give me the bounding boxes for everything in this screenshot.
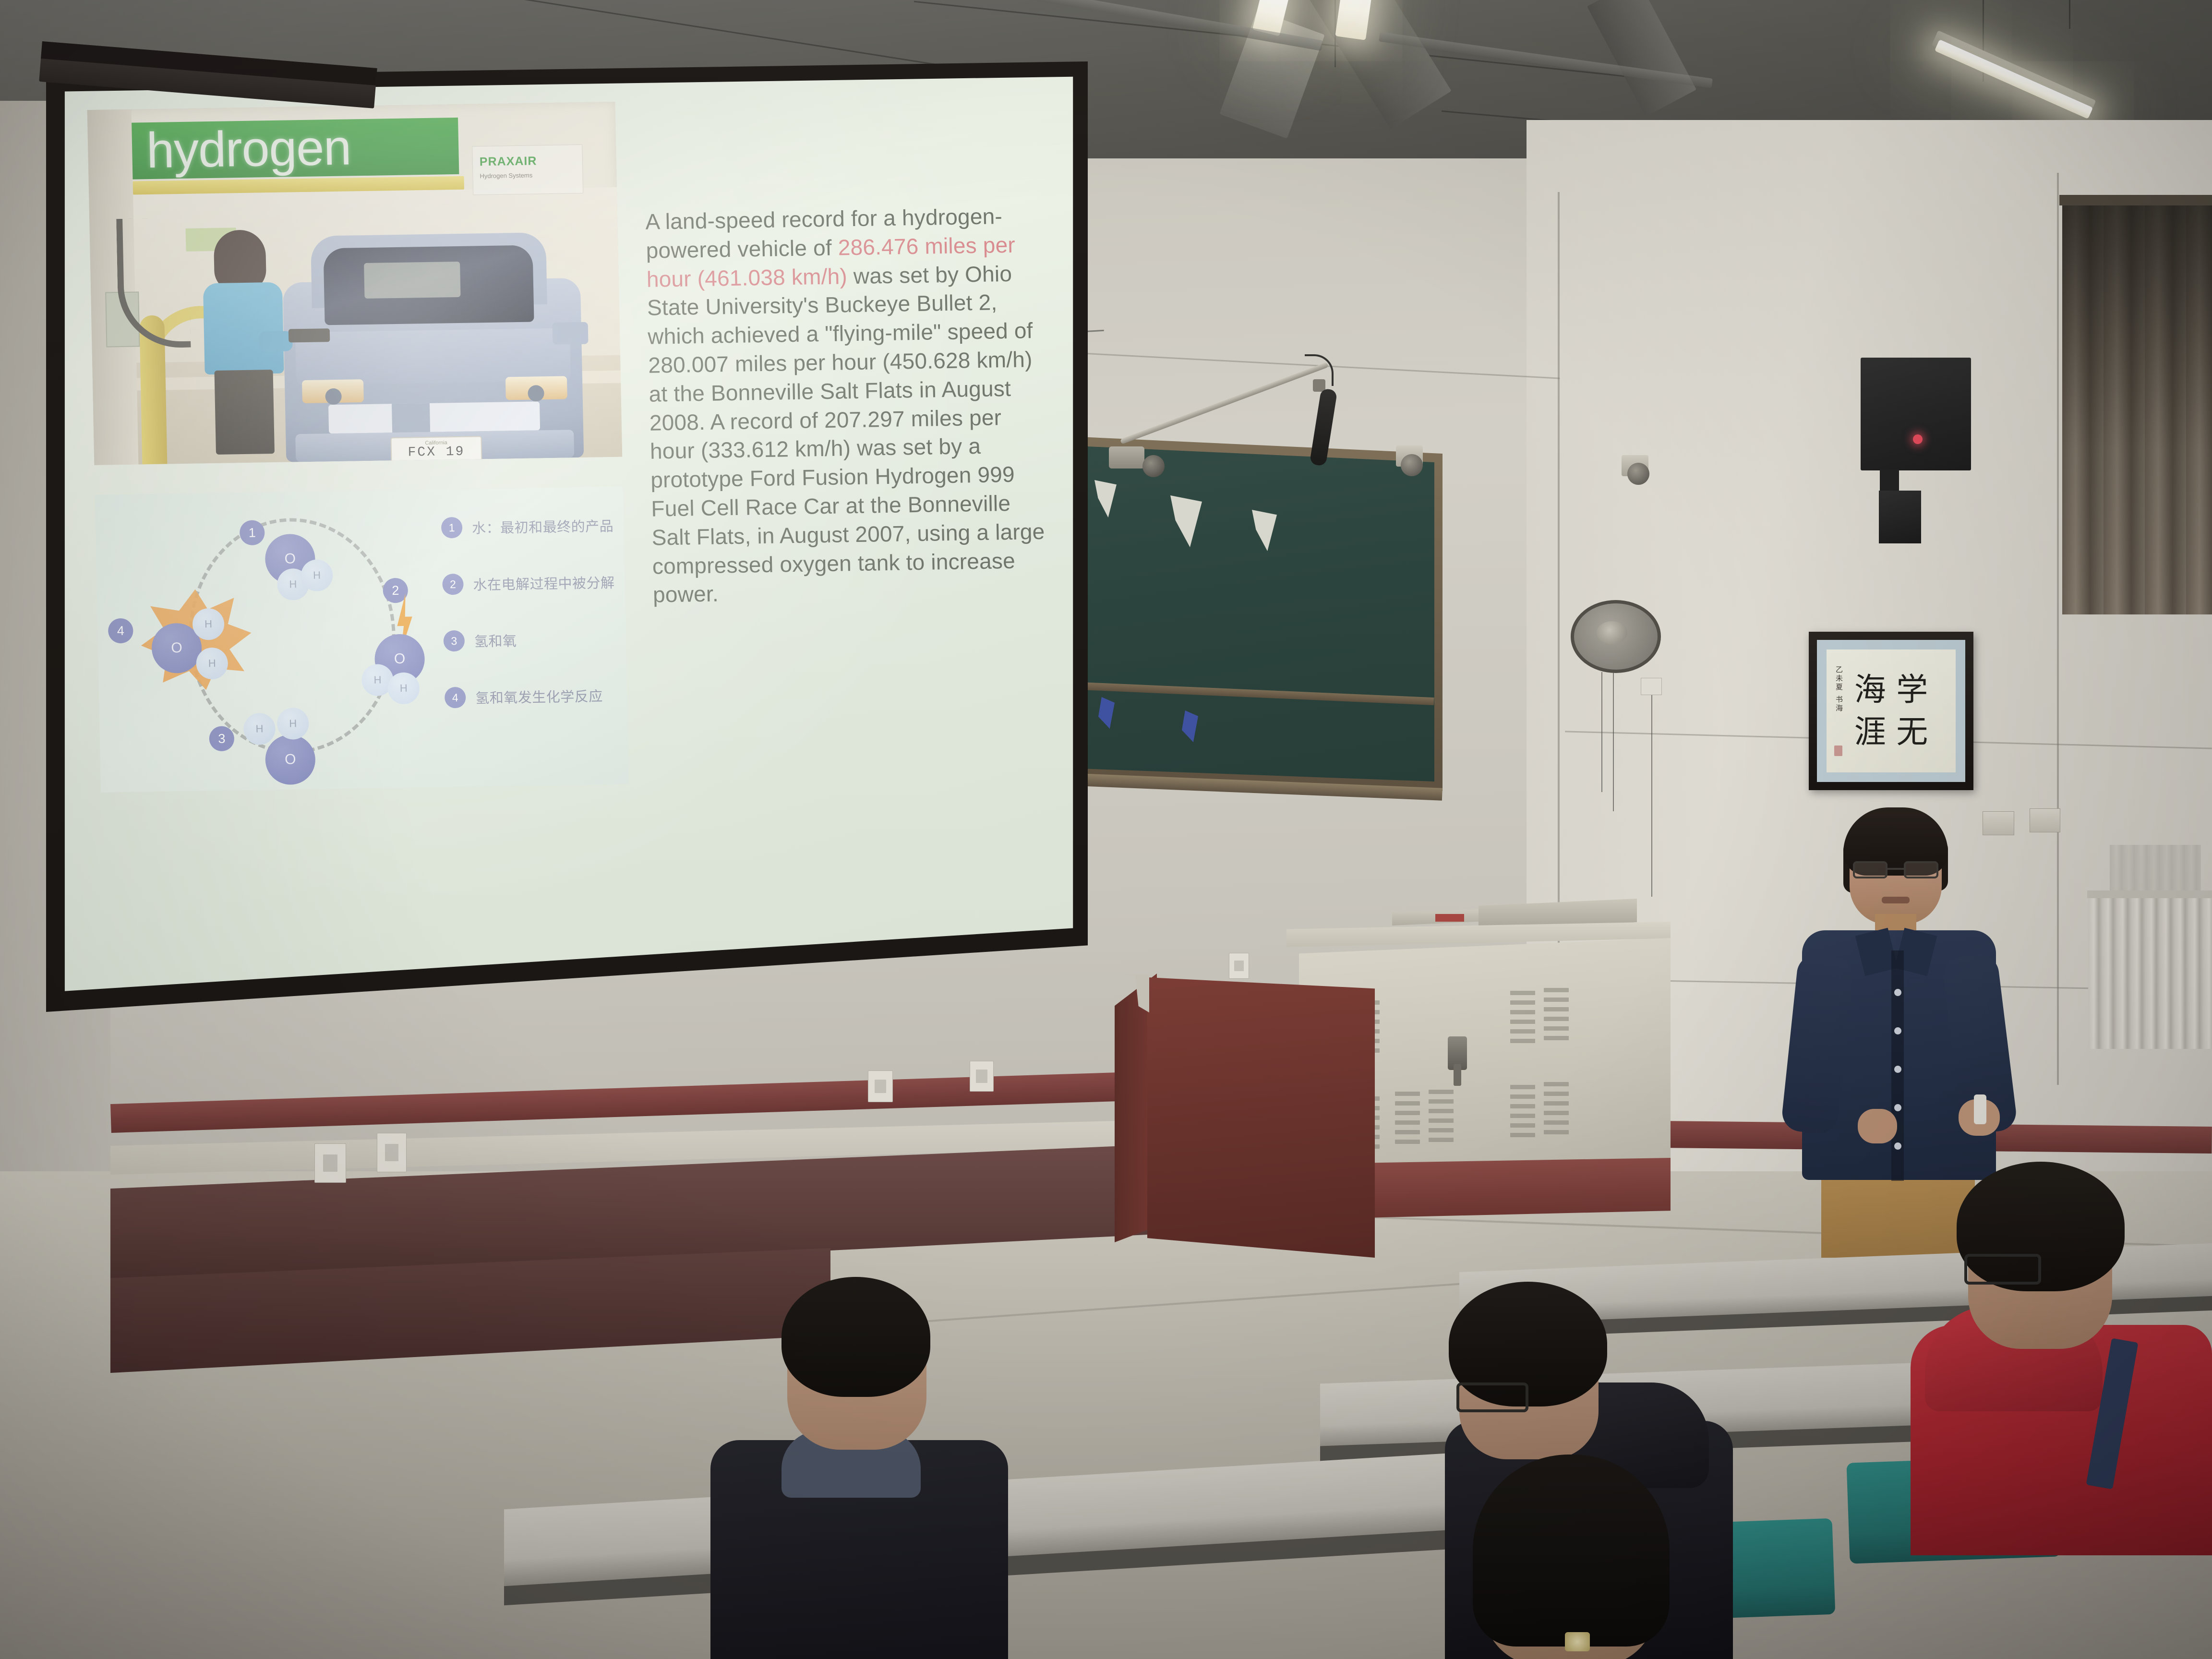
- slide-body-text: A land-speed record for a hydrogen-power…: [645, 202, 1047, 610]
- legend-item: 2 水在电解过程中被分解: [442, 571, 620, 595]
- praxair-subtitle-label: Hydrogen Systems: [480, 171, 582, 180]
- legend-item: 1 水：最初和最终的产品: [441, 515, 619, 539]
- student-hair: [1473, 1455, 1670, 1647]
- slide-paragraph: A land-speed record for a hydrogen-power…: [645, 202, 1047, 610]
- calligraphy-characters: 学 海 无 涯: [1849, 669, 1933, 753]
- person-refueling: [199, 229, 290, 454]
- side-mirror: [553, 322, 589, 345]
- lectern[interactable]: [1115, 970, 1374, 1258]
- shirt-button: [1894, 989, 1901, 996]
- slide-photo-hydrogen-station: hydrogen PRAXAIR Hydrogen Systems: [87, 102, 623, 465]
- student-front-center: [710, 1234, 1008, 1659]
- legend-label-4: 氢和氧发生化学反应: [475, 685, 603, 707]
- hydrogen-car: California FCX 19: [282, 232, 584, 462]
- person-hand: [259, 331, 293, 351]
- wall-switch[interactable]: [377, 1133, 407, 1172]
- legend-badge-2: 2: [442, 574, 464, 595]
- diagram-step-badge-3: 3: [209, 726, 234, 751]
- fan-hub: [1597, 621, 1627, 644]
- person-torso: [203, 282, 284, 375]
- license-plate: California FCX 19: [390, 436, 482, 463]
- slide-text-part2: was set by Ohio State University's Bucke…: [647, 261, 1045, 607]
- calligraphy-char-2: 海: [1849, 669, 1891, 711]
- radiator-cap: [2087, 890, 2212, 898]
- person-legs: [215, 370, 275, 455]
- projector-screen[interactable]: hydrogen PRAXAIR Hydrogen Systems: [58, 73, 1079, 998]
- motion-sensor: [1627, 463, 1649, 485]
- hydrogen-atom: H: [387, 672, 420, 704]
- wall-outlet[interactable]: [868, 1070, 893, 1102]
- windshield-reflection: [364, 262, 460, 299]
- mic-boom-pivot[interactable]: [1142, 455, 1165, 477]
- presenter-mouth: [1882, 897, 1910, 903]
- presentation-clicker[interactable]: [1974, 1094, 1986, 1124]
- motion-sensor: [1401, 454, 1423, 476]
- radiator-pipes: [2110, 845, 2201, 893]
- legend-badge-3: 3: [443, 630, 465, 652]
- light-hanger: [2069, 0, 2070, 29]
- vent-louvers: [1544, 1082, 1569, 1134]
- lectern-front-panel: [1147, 977, 1375, 1258]
- wall-outlet[interactable]: [314, 1143, 346, 1183]
- vent-louvers: [1510, 1085, 1535, 1137]
- chalkboard[interactable]: [1067, 445, 1434, 781]
- wall-speaker: [1861, 358, 1971, 470]
- radiator: [2088, 890, 2212, 1049]
- calligraphy-mat: 乙未夏 书海 学 海 无 涯: [1817, 640, 1965, 782]
- diagram-step-badge-4: 4: [108, 618, 133, 644]
- speaker-stem: [1880, 469, 1899, 491]
- legend-badge-1: 1: [441, 517, 463, 539]
- legend-badge-4: 4: [445, 687, 466, 709]
- legend-label-3: 氢和氧: [474, 630, 517, 650]
- slide-diagram-electrolysis-cycle: 1 O H H 2 O H H 3 O H H: [95, 487, 629, 793]
- calligraphy-char-3: 无: [1891, 711, 1934, 753]
- student-front-low: [1421, 1455, 1728, 1659]
- shirt-button: [1894, 1027, 1901, 1034]
- shirt-button: [1894, 1066, 1901, 1073]
- oxygen-atom: O: [265, 734, 316, 785]
- fan-power-cord: [1651, 695, 1652, 897]
- hydrogen-sign-label: hydrogen: [146, 122, 351, 176]
- presentation-slide: hydrogen PRAXAIR Hydrogen Systems: [58, 73, 1079, 998]
- wall-junction-box: [1879, 491, 1921, 543]
- license-plate-number: FCX 19: [408, 445, 465, 459]
- curtain-shadow: [2062, 202, 2212, 614]
- student-right-red: [1911, 1133, 2212, 1555]
- fuel-nozzle: [289, 328, 330, 342]
- presenter-glasses: [1853, 861, 1938, 878]
- praxair-sign: PRAXAIR Hydrogen Systems: [472, 144, 583, 195]
- vent-louvers: [1429, 1090, 1454, 1142]
- glasses-lens-right: [1904, 861, 1938, 878]
- car-grille: [328, 401, 540, 433]
- shirt-button: [1894, 1142, 1901, 1150]
- legend-item: 4 氢和氧发生化学反应: [445, 685, 623, 709]
- calligraphy-char-1: 学: [1891, 669, 1934, 711]
- fan-pull-cord[interactable]: [1613, 672, 1614, 811]
- vent-louvers: [1510, 991, 1535, 1043]
- student-hair: [781, 1277, 930, 1397]
- calligraphy-paper: 乙未夏 书海 学 海 无 涯: [1827, 649, 1956, 772]
- hydrogen-sign: hydrogen: [132, 118, 459, 180]
- hair-clip-icon: [1565, 1632, 1590, 1651]
- calligraphy-signature: 乙未夏 书海: [1834, 666, 1844, 713]
- student-glasses: [1456, 1382, 1528, 1412]
- wall-fan[interactable]: [1571, 600, 1661, 673]
- legend-label-2: 水在电解过程中被分解: [473, 572, 615, 594]
- calligraphy-char-4: 涯: [1849, 711, 1891, 753]
- shirt-button: [1894, 1104, 1901, 1111]
- vent-louvers: [1544, 988, 1569, 1040]
- cabinet-hasp: [1454, 1064, 1461, 1086]
- fan-pull-cord[interactable]: [1601, 672, 1602, 792]
- student-glasses: [1964, 1254, 2041, 1285]
- calligraphy-frame: 乙未夏 书海 学 海 无 涯: [1809, 632, 1973, 790]
- curtain-rod: [2059, 195, 2212, 205]
- glasses-bridge: [1887, 868, 1904, 870]
- legend-item: 3 氢和氧: [443, 628, 621, 652]
- mic-boom-mount: [1109, 446, 1144, 469]
- wall-corner: [2057, 173, 2059, 1085]
- legend-label-1: 水：最初和最终的产品: [472, 515, 614, 538]
- av-red-item: [1435, 914, 1464, 922]
- fan-wall-switch[interactable]: [1641, 678, 1662, 695]
- speaker-power-led-icon: [1913, 434, 1923, 444]
- wall-outlet[interactable]: [970, 1061, 994, 1092]
- calligraphy-seal: [1834, 745, 1842, 756]
- glasses-lens-left: [1853, 861, 1887, 878]
- presenter-hand-left: [1858, 1109, 1897, 1143]
- diagram-legend: 1 水：最初和最终的产品 2 水在电解过程中被分解 3 氢和氧 4 氢和氧发生化…: [441, 515, 623, 744]
- vent-louvers: [1395, 1092, 1420, 1144]
- praxair-brand-label: PRAXAIR: [480, 154, 583, 169]
- classroom-scene: hydrogen PRAXAIR Hydrogen Systems: [0, 0, 2212, 1659]
